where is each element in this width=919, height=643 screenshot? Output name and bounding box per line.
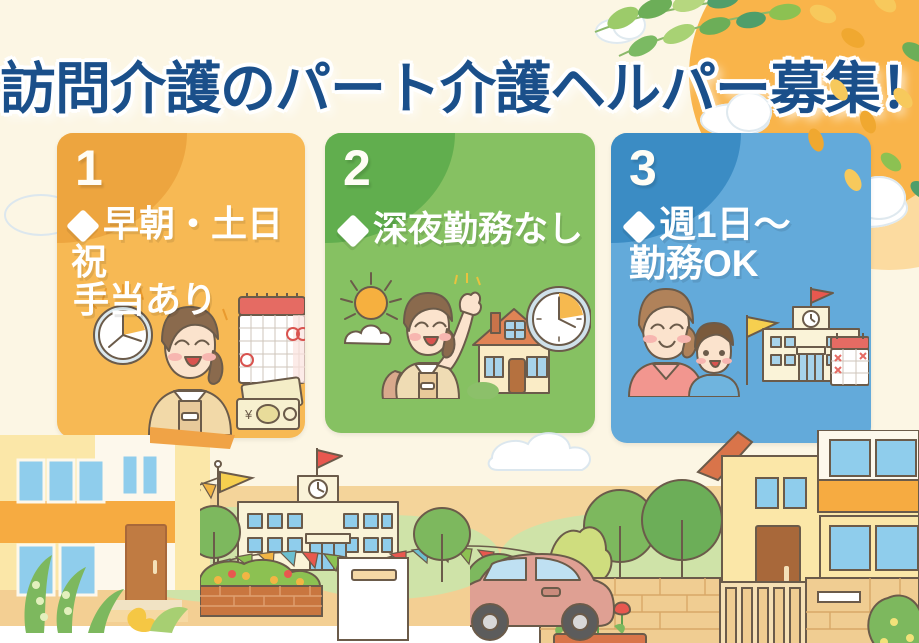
card-headline: 週1日〜 勤務OK	[627, 205, 857, 283]
mother-illustration	[629, 289, 703, 397]
headline-line-1: 早朝・土日祝	[71, 203, 283, 282]
card2-illustration	[333, 271, 591, 399]
card-number: 2	[343, 139, 371, 197]
waving-woman-illustration	[383, 273, 482, 399]
card-headline: 早朝・土日祝 手当あり	[71, 205, 293, 319]
diamond-bullet-icon	[622, 210, 656, 244]
headline-line-1: 深夜勤務なし	[373, 210, 583, 249]
cloud-icon	[489, 433, 590, 470]
wall-clock-icon	[527, 287, 591, 351]
calendar-icon	[831, 333, 869, 385]
diamond-bullet-icon	[66, 209, 100, 243]
card-number: 3	[629, 139, 657, 197]
right-street-scene	[470, 430, 919, 643]
poster-canvas: 訪問介護のパート介護ヘルパー募集！ 1 早朝・土日祝 手当あり	[0, 0, 919, 643]
headline-line-1: 週1日〜	[659, 204, 791, 245]
signboard-icon	[338, 558, 408, 640]
child-illustration	[689, 323, 739, 397]
headline-line-2: 手当あり	[73, 279, 217, 320]
card-headline: 深夜勤務なし	[337, 211, 587, 248]
benefit-card-1: 1 早朝・土日祝 手当あり	[57, 133, 305, 438]
sun-icon	[341, 273, 401, 319]
card3-illustration	[617, 285, 869, 397]
cloud-icon	[345, 326, 391, 345]
card-number: 1	[75, 139, 103, 197]
benefit-card-2: 2 深夜勤務なし	[325, 133, 595, 433]
diamond-bullet-icon	[336, 214, 370, 248]
headline-line-2: 勤務OK	[629, 243, 759, 284]
